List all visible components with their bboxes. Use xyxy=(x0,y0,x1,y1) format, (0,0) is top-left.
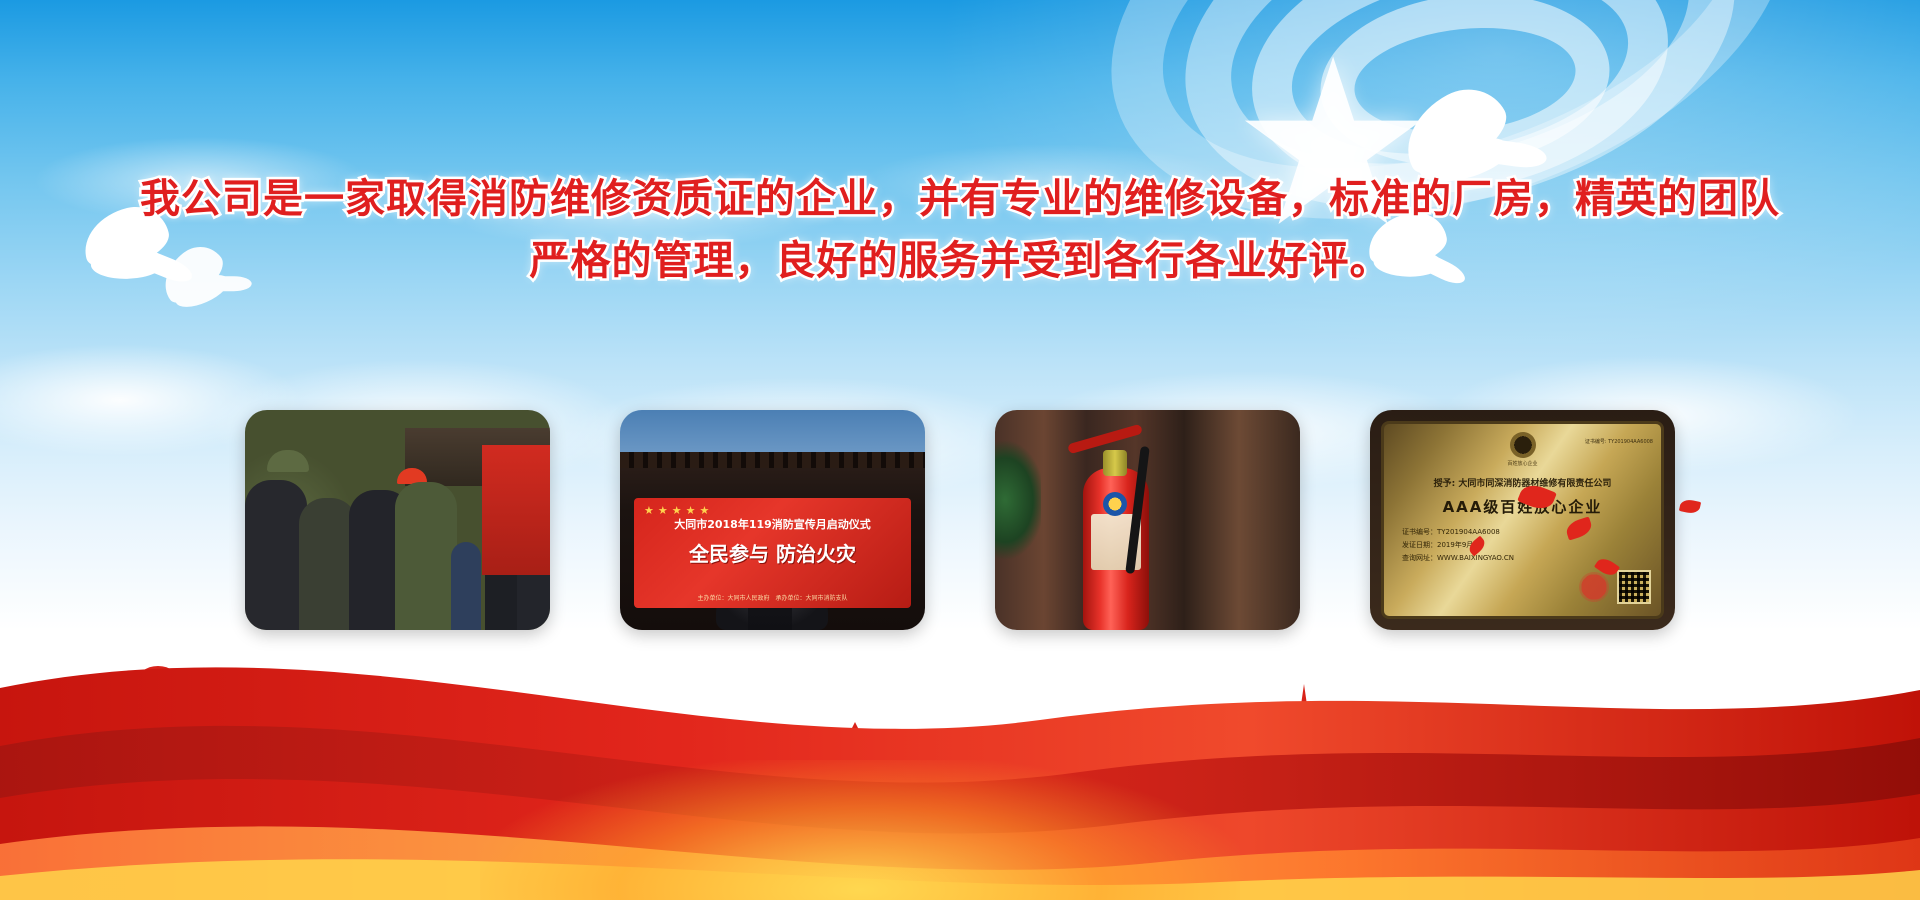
headline-line-1: 我公司是一家取得消防维修资质证的企业，并有专业的维修设备，标准的厂房，精英的团队 xyxy=(0,168,1920,230)
photo-fire-extinguisher[interactable] xyxy=(995,410,1300,630)
plaque-emblem-icon xyxy=(1510,432,1536,458)
photo-119-ceremony[interactable]: ★★★★★ 大同市2018年119消防宣传月启动仪式 全民参与 防治火灾 主办单… xyxy=(620,410,925,630)
plaque-plate: 百姓放心企业 证书编号: TY201904AA6008 授予: 大同市同深消防器… xyxy=(1381,421,1664,619)
photo-award-plaque[interactable]: 百姓放心企业 证书编号: TY201904AA6008 授予: 大同市同深消防器… xyxy=(1370,410,1675,630)
plaque-qr-code-icon xyxy=(1617,570,1651,604)
plaque-meta-line-1: 证书编号：TY201904AA6008 xyxy=(1402,528,1500,536)
plaque-award-title: AAA级百姓放心企业 xyxy=(1384,496,1661,517)
ceremony-banner-line-3: 主办单位：大同市人民政府 承办单位：大同市消防支队 xyxy=(634,593,911,602)
ceremony-banner-line-2: 全民参与 防治火灾 xyxy=(634,538,911,567)
ribbon-glow xyxy=(480,760,1240,900)
plaque-red-seal-icon xyxy=(1579,572,1609,602)
plaque-meta: 证书编号：TY201904AA6008 发证日期：2019年9月 查询网址：WW… xyxy=(1402,526,1514,565)
ceremony-banner: ★★★★★ 大同市2018年119消防宣传月启动仪式 全民参与 防治火灾 主办单… xyxy=(634,498,911,608)
sky-swirl-3 xyxy=(1312,0,1618,180)
promo-banner: ★ 我公司是一家取得消防维修资质证的企业，并有专业的维修设备，标准的厂房，精英的… xyxy=(0,0,1920,900)
plaque-meta-line-3: 查询网址：WWW.BAIXINGYAO.CN xyxy=(1402,554,1514,562)
plaque-top-code: 证书编号: TY201904AA6008 xyxy=(1585,438,1653,445)
photo-strip: ★★★★★ 大同市2018年119消防宣传月启动仪式 全民参与 防治火灾 主办单… xyxy=(0,410,1920,630)
plaque-meta-line-2: 发证日期：2019年9月 xyxy=(1402,541,1473,549)
extinguisher-neck xyxy=(1103,450,1127,476)
plaque-emblem-caption: 百姓放心企业 xyxy=(1507,460,1537,467)
extinguisher-badge-icon xyxy=(1103,492,1127,516)
temple-roof xyxy=(620,452,925,468)
headline-line-2: 严格的管理，良好的服务并受到各行各业好评。 xyxy=(0,230,1920,292)
ceremony-banner-line-1: 大同市2018年119消防宣传月启动仪式 xyxy=(634,516,911,532)
photo-officials-inspection[interactable] xyxy=(245,410,550,630)
headline-block: 我公司是一家取得消防维修资质证的企业，并有专业的维修设备，标准的厂房，精英的团队… xyxy=(0,168,1920,292)
plaque-award-to: 授予: 大同市同深消防器材维修有限责任公司 xyxy=(1384,476,1661,489)
potted-plant xyxy=(995,440,1041,560)
